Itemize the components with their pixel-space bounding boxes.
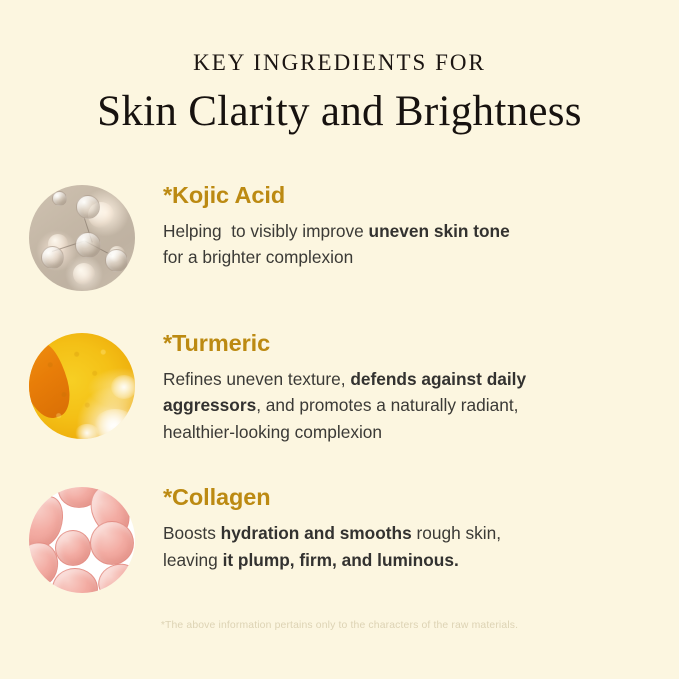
molecule-sphere: [76, 195, 100, 219]
powder-highlight: [111, 375, 134, 399]
powder-highlight: [94, 409, 134, 439]
ingredient-thumbnail-wrap: [0, 183, 163, 291]
molecule-sphere: [41, 246, 64, 269]
molecule-sphere: [52, 191, 67, 206]
ingredient-thumbnail-wrap: [0, 331, 163, 439]
list-item: *Collagen Boosts hydration and smooths r…: [0, 485, 679, 593]
list-item: *Kojic Acid Helping to visibly improve u…: [0, 183, 679, 291]
ingredient-description: Helping to visibly improve uneven skin t…: [163, 218, 595, 271]
footer-disclaimer: *The above information pertains only to …: [0, 620, 679, 631]
ingredient-list: *Kojic Acid Helping to visibly improve u…: [0, 183, 679, 593]
infographic-page: KEY INGREDIENTS FOR Skin Clarity and Bri…: [0, 0, 679, 679]
page-title: Skin Clarity and Brightness: [0, 87, 679, 136]
ingredient-description: Refines uneven texture, defends against …: [163, 366, 595, 445]
ingredient-name: *Kojic Acid: [163, 183, 635, 209]
ingredient-name: *Collagen: [163, 485, 635, 511]
list-item: *Turmeric Refines uneven texture, defend…: [0, 331, 679, 445]
turmeric-image: [29, 333, 135, 439]
molecule-sphere: [105, 249, 128, 272]
collagen-capsule: [90, 521, 134, 565]
collagen-capsule: [52, 568, 98, 593]
collagen-capsule: [94, 558, 134, 593]
ingredient-content: *Turmeric Refines uneven texture, defend…: [163, 331, 679, 445]
kojic-acid-image: [29, 185, 135, 291]
ingredient-description: Boosts hydration and smooths rough skin,…: [163, 520, 595, 573]
powder-highlight: [75, 424, 99, 439]
eyebrow-text: KEY INGREDIENTS FOR: [0, 50, 679, 75]
collagen-image: [29, 487, 135, 593]
ingredient-content: *Kojic Acid Helping to visibly improve u…: [163, 183, 679, 271]
collagen-capsule: [55, 530, 91, 566]
bokeh-glow: [73, 263, 95, 285]
molecule-sphere: [75, 232, 101, 258]
ingredient-content: *Collagen Boosts hydration and smooths r…: [163, 485, 679, 573]
header: KEY INGREDIENTS FOR Skin Clarity and Bri…: [0, 50, 679, 137]
ingredient-thumbnail-wrap: [0, 485, 163, 593]
ingredient-name: *Turmeric: [163, 331, 635, 357]
